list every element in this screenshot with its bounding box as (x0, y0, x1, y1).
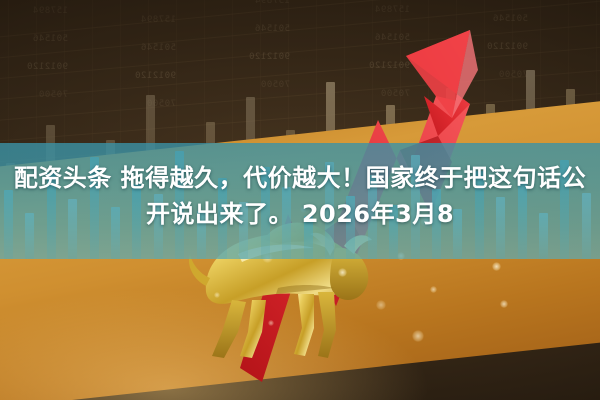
bokeh-light (500, 300, 508, 308)
headline-text: 配资头条 拖得越久，代价越大！国家终于把这句话公 开说出来了。 2026年3月8 (0, 160, 600, 232)
news-banner-image: 1578945015469012120705001578945015469012… (0, 0, 600, 400)
bokeh-light (376, 300, 386, 310)
headline-line-1: 配资头条 拖得越久，代价越大！国家终于把这句话公 (0, 160, 600, 196)
bokeh-light (492, 262, 501, 271)
bokeh-light (268, 320, 274, 326)
headline-line-2: 开说出来了。 2026年3月8 (0, 196, 600, 232)
bokeh-light (430, 286, 437, 293)
bokeh-light (214, 292, 220, 298)
bokeh-light (412, 330, 424, 342)
bokeh-light (338, 268, 347, 277)
